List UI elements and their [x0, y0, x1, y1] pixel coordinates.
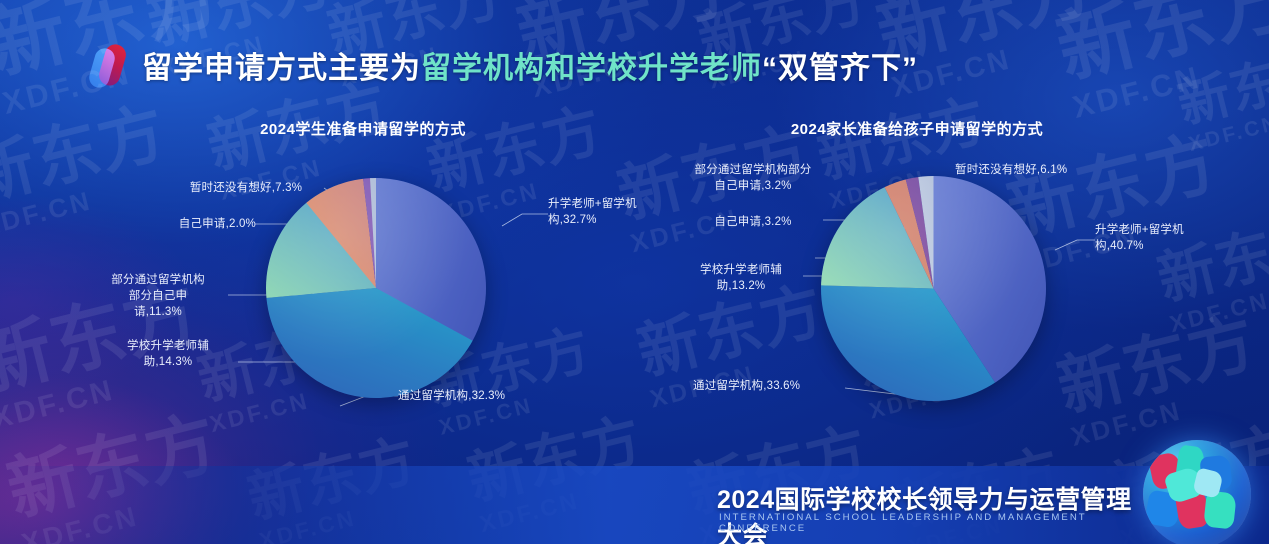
- pie-label-agency-student: 通过留学机构,32.3%: [398, 388, 588, 404]
- pie-body: [821, 176, 1046, 401]
- globe-logo-icon: [1143, 440, 1251, 544]
- pie-label-schoolteacher-parent: 学校升学老师辅 助,13.2%: [667, 262, 815, 294]
- page-title-plain: 留学申请方式主要为: [142, 52, 421, 85]
- pie-label-agency-parent: 通过留学机构,33.6%: [693, 378, 873, 394]
- pie-chart-student: [266, 178, 486, 398]
- bottom-banner: 2024国际学校校长领导力与运营管理大会 INTERNATIONAL SCHOO…: [0, 466, 1269, 544]
- pie-label-pending-student: 暂时还没有想好,7.3%: [162, 180, 330, 196]
- page-title: 留学申请方式主要为留学机构和学校升学老师“双管齐下”: [142, 43, 918, 87]
- pie-chart-parent: [821, 176, 1046, 401]
- chart-title-parent: 2024家长准备给孩子申请留学的方式: [637, 118, 1197, 139]
- banner-content: 2024国际学校校长领导力与运营管理大会 INTERNATIONAL SCHOO…: [709, 466, 1269, 544]
- chart-parent: 2024家长准备给孩子申请留学的方式: [625, 110, 1185, 440]
- page-header: 留学申请方式主要为留学机构和学校升学老师“双管齐下”: [92, 38, 918, 92]
- pie-label-partial-parent: 部分通过留学机构部分 自己申请,3.2%: [677, 162, 829, 194]
- pie-label-partial-student: 部分通过留学机构 部分自己申 请,11.3%: [84, 272, 232, 320]
- chart-student: 2024学生准备申请留学的方式: [78, 110, 638, 440]
- pie-label-self-parent: 自己申请,3.2%: [677, 214, 829, 230]
- page-title-highlight: 留学机构和学校升学老师: [421, 52, 762, 85]
- banner-title-en: INTERNATIONAL SCHOOL LEADERSHIP AND MANA…: [719, 512, 1139, 534]
- bullet-marker-icon: [92, 42, 132, 88]
- chart-title-student: 2024学生准备申请留学的方式: [83, 118, 643, 139]
- pie-label-self-student: 自己申请,2.0%: [108, 216, 256, 232]
- pie-body: [266, 178, 486, 398]
- pie-label-pending-parent: 暂时还没有想好,6.1%: [955, 162, 1145, 178]
- pie-label-schoolteacher-student: 学校升学老师辅 助,14.3%: [94, 338, 242, 370]
- page-title-quote: “双管齐下”: [762, 52, 918, 85]
- pie-label-teacher-agency-parent: 升学老师+留学机 构,40.7%: [1095, 222, 1205, 254]
